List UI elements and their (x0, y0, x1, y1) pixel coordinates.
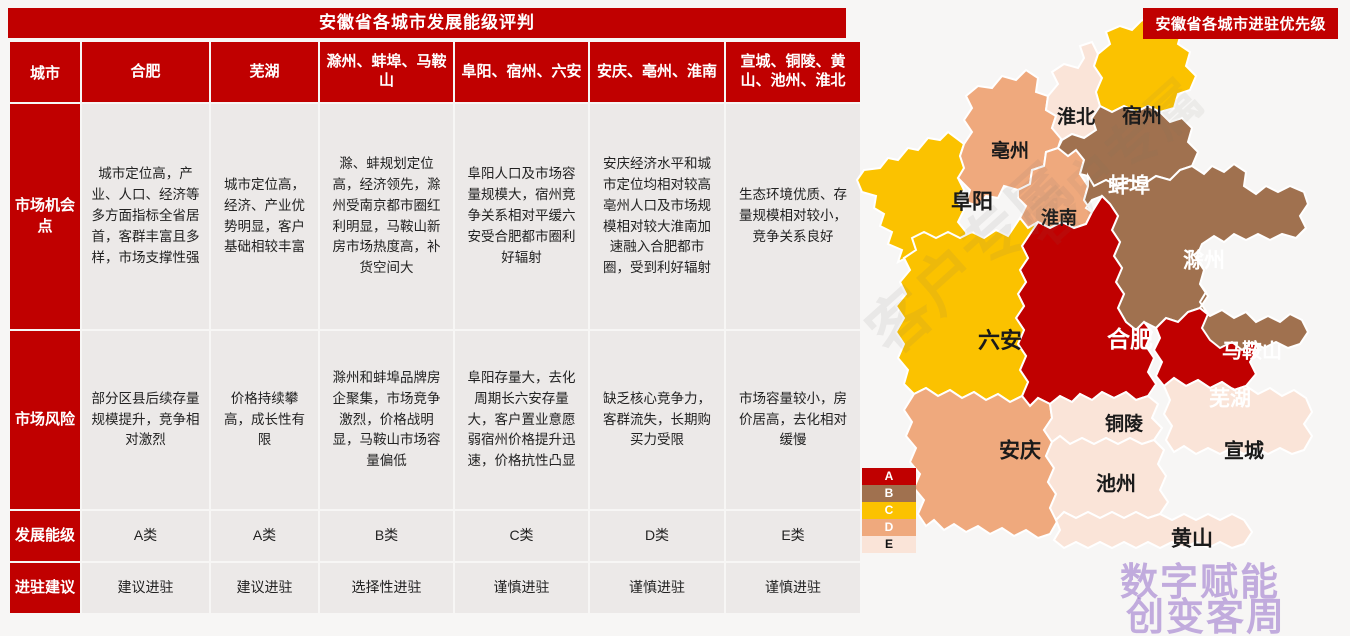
advice-cell-2: 选择性进驻 (320, 563, 453, 613)
risk-cell-2: 滁州和蚌埠品牌房企聚集，市场竞争激烈，价格战明显，马鞍山市场容量偏低 (320, 331, 453, 509)
table-row-opportunity: 市场机会点 城市定位高，产业、人口、经济等多方面指标全省居首，客群丰富且多样，市… (10, 104, 860, 329)
header-col-2: 滁州、蚌埠、马鞍山 (320, 42, 453, 102)
advice-cell-3: 谨慎进驻 (455, 563, 588, 613)
risk-cell-4: 缺乏核心竞争力，客群流失，长期购买力受限 (590, 331, 724, 509)
region-label-bozhou: 亳州 (991, 139, 1029, 162)
opportunity-cell-2: 滁、蚌规划定位高，经济领先，滁州受南京都市圈红利明显，马鞍山新房市场热度高，补货… (320, 104, 453, 329)
region-label-chuzhou: 滁州 (1183, 249, 1225, 273)
region-label-bengbu: 蚌埠 (1108, 174, 1150, 198)
legend-item-e[interactable]: E (862, 536, 916, 553)
map-panel: 客户专属 客户专属 安徽省各城市进驻优先级 (852, 0, 1350, 636)
region-label-xuancheng: 宣城 (1224, 438, 1264, 462)
table-title: 安徽省各城市发展能级评判 (8, 8, 846, 38)
risk-cell-3: 阜阳存量大，去化周期长六安存量大，客户置业意愿弱宿州价格提升迅速，价格抗性凸显 (455, 331, 588, 509)
legend-item-a[interactable]: A (862, 468, 916, 485)
region-label-chizhou: 池州 (1096, 472, 1136, 495)
region-huangshan[interactable] (1054, 512, 1252, 548)
evaluation-table: 城市 合肥 芜湖 滁州、蚌埠、马鞍山 阜阳、宿州、六安 安庆、亳州、淮南 宣城、… (8, 40, 862, 615)
risk-cell-5: 市场容量较小，房价居高，去化相对缓慢 (726, 331, 860, 509)
advice-cell-4: 谨慎进驻 (590, 563, 724, 613)
region-label-huainan: 淮南 (1041, 207, 1077, 228)
region-label-huaibei: 淮北 (1057, 106, 1095, 128)
opportunity-cell-5: 生态环境优质、存量规模相对较小，竞争关系良好 (726, 104, 860, 329)
legend-item-b[interactable]: B (862, 485, 916, 502)
region-label-luan: 六安 (978, 328, 1022, 353)
map-legend: A B C D E (862, 468, 916, 553)
table-header-row: 城市 合肥 芜湖 滁州、蚌埠、马鞍山 阜阳、宿州、六安 安庆、亳州、淮南 宣城、… (10, 42, 860, 102)
header-city-label: 城市 (10, 42, 80, 102)
advice-cell-1: 建议进驻 (211, 563, 318, 613)
region-label-fuyang: 阜阳 (951, 190, 993, 214)
table-row-risk: 市场风险 部分区县后续存量规模提升，竞争相对激烈 价格持续攀高，成长性有限 滁州… (10, 331, 860, 509)
anhui-province-map: 阜阳 亳州 淮北 宿州 蚌埠 淮南 滁州 六安 合肥 马鞍山 芜湖 铜陵 安庆 … (852, 0, 1350, 636)
header-col-5: 宣城、铜陵、黄山、池州、淮北 (726, 42, 860, 102)
advice-cell-5: 谨慎进驻 (726, 563, 860, 613)
header-col-4: 安庆、亳州、淮南 (590, 42, 724, 102)
legend-item-c[interactable]: C (862, 502, 916, 519)
row-label-grade: 发展能级 (10, 511, 80, 561)
risk-cell-0: 部分区县后续存量规模提升，竞争相对激烈 (82, 331, 209, 509)
region-label-maanshan: 马鞍山 (1222, 338, 1282, 362)
region-label-wuhu: 芜湖 (1209, 388, 1251, 411)
evaluation-table-panel: 安徽省各城市发展能级评判 城市 合肥 芜湖 滁州、蚌埠、马鞍山 阜阳、宿州、六安… (8, 8, 846, 620)
region-label-hefei: 合肥 (1107, 326, 1153, 352)
opportunity-cell-0: 城市定位高，产业、人口、经济等多方面指标全省居首，客群丰富且多样，市场支撑性强 (82, 104, 209, 329)
grade-cell-0: A类 (82, 511, 209, 561)
grade-cell-5: E类 (726, 511, 860, 561)
header-col-3: 阜阳、宿州、六安 (455, 42, 588, 102)
table-row-grade: 发展能级 A类 A类 B类 C类 D类 E类 (10, 511, 860, 561)
opportunity-cell-4: 安庆经济水平和城市定位均相对较高亳州人口及市场规模相对较大淮南加速融入合肥都市圈… (590, 104, 724, 329)
row-label-risk: 市场风险 (10, 331, 80, 509)
grade-cell-2: B类 (320, 511, 453, 561)
table-row-advice: 进驻建议 建议进驻 建议进驻 选择性进驻 谨慎进驻 谨慎进驻 谨慎进驻 (10, 563, 860, 613)
grade-cell-4: D类 (590, 511, 724, 561)
region-luan[interactable] (896, 218, 1038, 402)
grade-cell-1: A类 (211, 511, 318, 561)
region-label-tongling: 铜陵 (1105, 412, 1144, 435)
region-label-suzhou: 宿州 (1122, 103, 1162, 127)
advice-cell-0: 建议进驻 (82, 563, 209, 613)
grade-cell-3: C类 (455, 511, 588, 561)
row-label-opportunity: 市场机会点 (10, 104, 80, 329)
map-title: 安徽省各城市进驻优先级 (1143, 8, 1338, 39)
opportunity-cell-3: 阜阳人口及市场容量规模大，宿州竞争关系相对平缓六安受合肥都市圈利好辐射 (455, 104, 588, 329)
region-label-huangshan: 黄山 (1171, 528, 1213, 551)
row-label-advice: 进驻建议 (10, 563, 80, 613)
region-anqing[interactable] (904, 388, 1058, 538)
opportunity-cell-1: 城市定位高，经济、产业优势明显，客户基础相较丰富 (211, 104, 318, 329)
slide-root: 安徽省各城市发展能级评判 城市 合肥 芜湖 滁州、蚌埠、马鞍山 阜阳、宿州、六安… (0, 0, 1350, 636)
region-label-anqing: 安庆 (999, 439, 1041, 463)
legend-item-d[interactable]: D (862, 519, 916, 536)
header-col-1: 芜湖 (211, 42, 318, 102)
risk-cell-1: 价格持续攀高，成长性有限 (211, 331, 318, 509)
header-col-0: 合肥 (82, 42, 209, 102)
